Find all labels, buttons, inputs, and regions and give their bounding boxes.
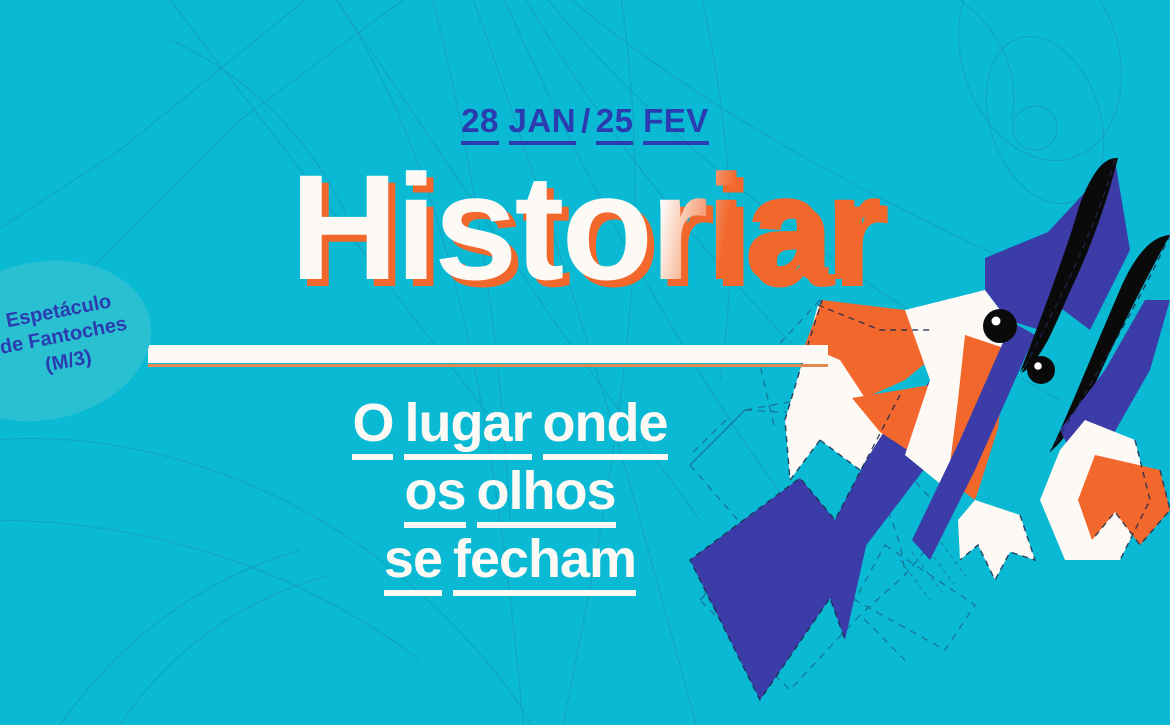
date-day-start: 28 — [461, 104, 499, 145]
subtitle-line-1: Olugaronde — [300, 395, 720, 463]
subtitle-word: os — [404, 463, 465, 528]
date-month-end: FEV — [643, 104, 709, 145]
date-line: 28 JAN/25 FEV — [0, 104, 1170, 145]
subtitle-word: onde — [543, 395, 668, 460]
main-title-text: Historiar — [290, 143, 880, 311]
date-day-end: 25 — [596, 104, 634, 145]
date-month-start: JAN — [509, 104, 577, 145]
white-tail-lower — [958, 500, 1035, 580]
subtitle-word: se — [384, 531, 442, 596]
page-title: Historiar Historiar — [290, 152, 880, 302]
subtitle-block: Olugaronde osolhos sefecham — [300, 395, 720, 599]
eye-upper — [983, 309, 1017, 343]
subtitle-line-2: osolhos — [300, 463, 720, 531]
divider-bar — [148, 345, 828, 363]
date-separator: / — [576, 102, 596, 139]
subtitle-word: fecham — [453, 531, 636, 596]
badge-label: Espetáculo de Fantoches (M/3) — [0, 287, 134, 394]
poster-canvas: 28 JAN/25 FEV Historiar Historiar Espetá… — [0, 0, 1170, 725]
eye-lower — [1027, 356, 1055, 384]
subtitle-word: lugar — [404, 395, 531, 460]
subtitle-word: olhos — [477, 463, 616, 528]
subtitle-line-3: sefecham — [300, 531, 720, 599]
main-title-container: Historiar Historiar — [0, 152, 1170, 302]
subtitle-word: O — [352, 395, 393, 460]
